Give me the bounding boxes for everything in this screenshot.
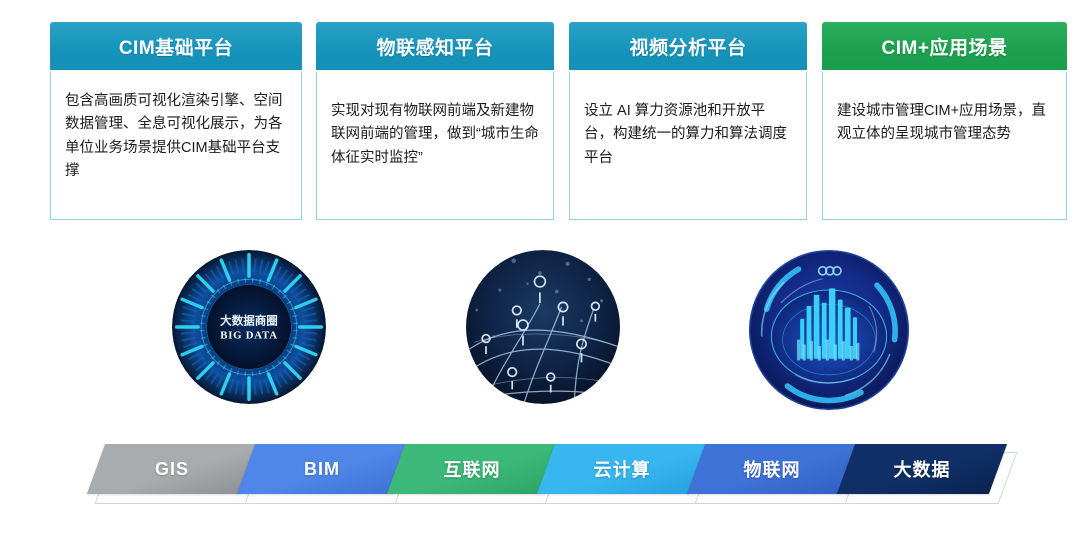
chip-cloud[interactable]: 云计算 (546, 444, 714, 508)
card-cim-plus-scenarios[interactable]: CIM+应用场景 建设城市管理CIM+应用场景，直观立体的呈现城市管理态势 (822, 22, 1067, 220)
card-cim-base-platform[interactable]: CIM基础平台 包含高画质可视化渲染引擎、空间数据管理、全息可视化展示，为各单位… (50, 22, 302, 220)
big-data-radial-icon: 大数据商圈 BIG DATA (172, 250, 326, 404)
chip-internet[interactable]: 互联网 (396, 444, 564, 508)
card-body-video-analysis-platform: 设立 AI 算力资源池和开放平台，构建统一的算力和算法调度平台 (569, 72, 807, 220)
card-video-analysis-platform[interactable]: 视频分析平台 设立 AI 算力资源池和开放平台，构建统一的算力和算法调度平台 (569, 22, 807, 220)
big-data-caption-en: BIG DATA (220, 330, 278, 342)
illustration-circles-row: 大数据商圈 BIG DATA (0, 240, 1080, 425)
chip-bim[interactable]: BIM (246, 444, 414, 508)
city-network-pins-icon (458, 250, 628, 404)
card-title: CIM基础平台 (119, 33, 233, 60)
card-header-video-analysis-platform: 视频分析平台 (569, 22, 807, 70)
chip-gis[interactable]: GIS (96, 444, 264, 508)
card-body-iot-sensing-platform: 实现对现有物联网前端及新建物联网前端的管理，做到“城市生命体征实时监控” (316, 72, 554, 220)
card-title: 物联感知平台 (376, 33, 493, 60)
card-body-cim-plus-scenarios: 建设城市管理CIM+应用场景，直观立体的呈现城市管理态势 (822, 72, 1067, 220)
chip-face (237, 444, 407, 494)
chip-face (387, 444, 557, 494)
technology-chips-row: GIS BIM 互联网 云计算 物联网 大数据 (0, 444, 1080, 518)
card-title: 视频分析平台 (629, 33, 746, 60)
city-hologram-ring-icon (748, 250, 910, 410)
big-data-caption-cn: 大数据商圈 (220, 314, 278, 328)
card-title: CIM+应用场景 (882, 33, 1008, 60)
chip-face (837, 444, 1007, 494)
platform-cards-row: CIM基础平台 包含高画质可视化渲染引擎、空间数据管理、全息可视化展示，为各单位… (0, 0, 1080, 232)
card-header-iot-sensing-platform: 物联感知平台 (316, 22, 554, 70)
chip-face (537, 444, 707, 494)
card-header-cim-plus-scenarios: CIM+应用场景 (822, 22, 1067, 70)
chip-iot[interactable]: 物联网 (696, 444, 864, 508)
card-iot-sensing-platform[interactable]: 物联感知平台 实现对现有物联网前端及新建物联网前端的管理，做到“城市生命体征实时… (316, 22, 554, 220)
chip-bigdata[interactable]: 大数据 (846, 444, 1014, 508)
card-body-cim-base-platform: 包含高画质可视化渲染引擎、空间数据管理、全息可视化展示，为各单位业务场景提供CI… (50, 72, 302, 220)
chip-face (687, 444, 857, 494)
card-header-cim-base-platform: CIM基础平台 (50, 22, 302, 70)
chip-face (87, 444, 257, 494)
